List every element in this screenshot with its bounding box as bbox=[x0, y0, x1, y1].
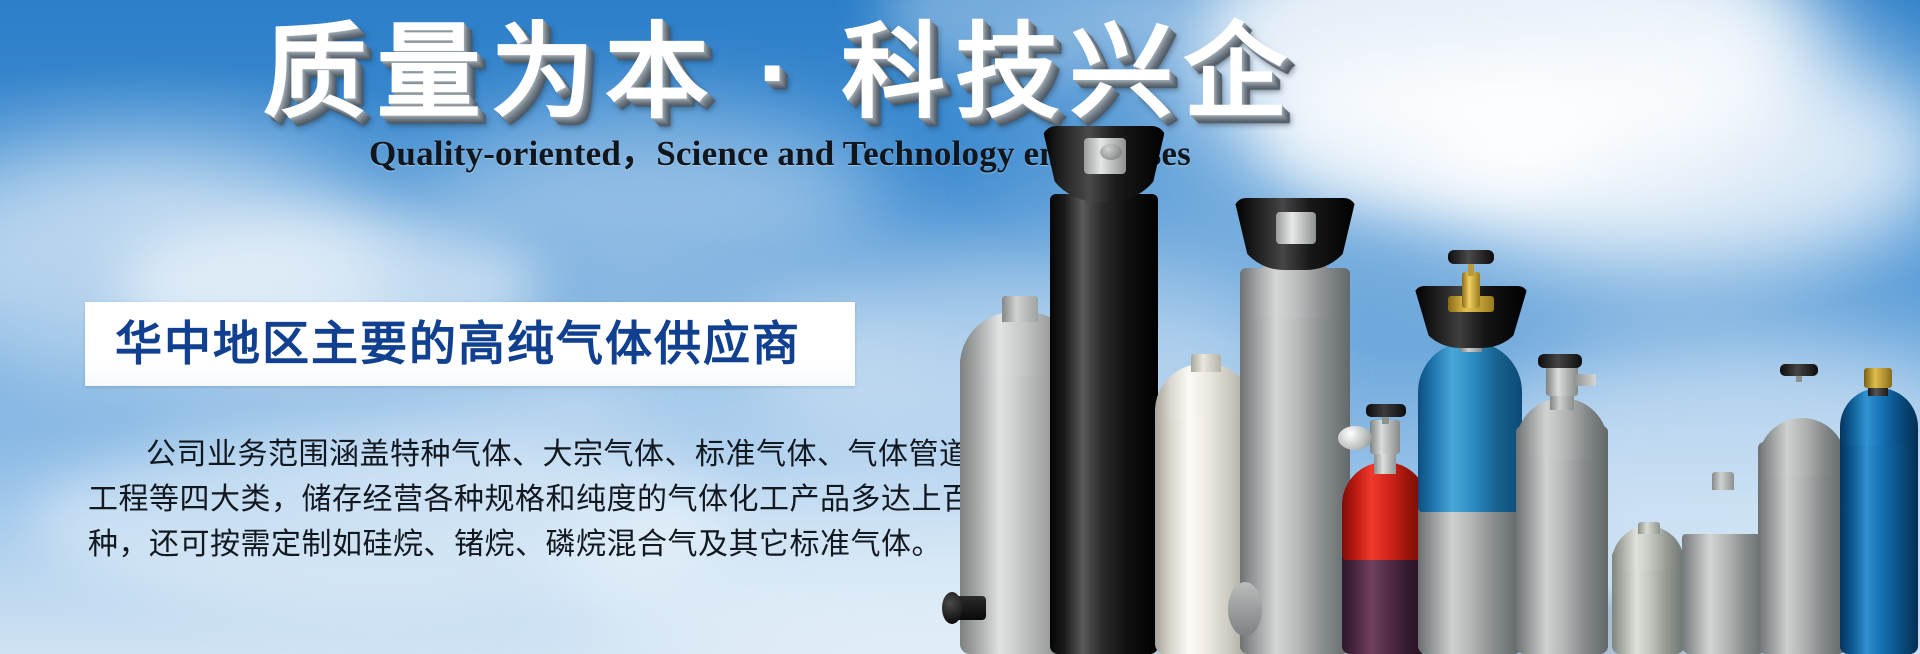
cylinder-shoulder-green bbox=[1682, 482, 1766, 576]
paragraph-line: 公司业务范围涵盖特种气体、大宗气体、标准气体、气体管道 bbox=[88, 432, 868, 477]
cylinder-body bbox=[1516, 426, 1608, 654]
valve-handwheel bbox=[1366, 404, 1406, 417]
cylinder-body bbox=[1906, 510, 1920, 654]
valve-handwheel bbox=[1100, 144, 1122, 160]
cylinder-valve bbox=[1370, 420, 1400, 454]
cylinder-neck bbox=[1002, 296, 1038, 322]
promotional-banner: 质量为本 · 科技兴企 Quality-oriented，Science and… bbox=[0, 0, 1920, 654]
cylinder-valve bbox=[1276, 212, 1316, 244]
cylinder-shoulder-red bbox=[1342, 462, 1428, 560]
description-paragraph: 公司业务范围涵盖特种气体、大宗气体、标准气体、气体管道 工程等四大类，储存经营各… bbox=[88, 432, 868, 567]
cylinder-shoulder bbox=[1906, 482, 1920, 528]
cylinder-red-purple-small bbox=[1342, 404, 1428, 654]
valve-handwheel bbox=[942, 592, 962, 624]
valve-handwheel bbox=[1780, 364, 1818, 376]
cylinder-end-cap bbox=[1228, 582, 1262, 636]
paragraph-line: 种，还可按需定制如硅烷、锗烷、磷烷混合气及其它标准气体。 bbox=[88, 522, 868, 567]
brass-valve-body bbox=[1462, 272, 1480, 308]
cylinder-lying-horizontal bbox=[952, 570, 1272, 648]
valve-outlet bbox=[1574, 374, 1596, 386]
pressure-gauge bbox=[1338, 426, 1372, 450]
cylinder-gray-valve-tall bbox=[1758, 364, 1846, 654]
cylinder-silver-plain bbox=[1906, 476, 1920, 654]
cylinder-valve bbox=[1786, 378, 1814, 412]
slogan-box: 华中地区主要的高纯气体供应商 bbox=[85, 302, 855, 386]
cylinder-valve bbox=[1710, 454, 1736, 478]
cylinder-shoulder-blue bbox=[1418, 342, 1522, 512]
paragraph-line: 工程等四大类，储存经营各种规格和纯度的气体化工产品多达上百 bbox=[88, 477, 868, 522]
cylinder-green-medium bbox=[1682, 454, 1766, 654]
cylinder-silver-small bbox=[1612, 522, 1684, 654]
slogan-text: 华中地区主要的高纯气体供应商 bbox=[85, 319, 801, 369]
cylinder-neck bbox=[1638, 522, 1660, 534]
gas-cylinder-group-image bbox=[940, 0, 1920, 654]
cylinder-body bbox=[974, 570, 1242, 648]
cylinder-neck bbox=[1191, 354, 1221, 372]
valve-handwheel bbox=[1538, 354, 1582, 368]
valve-handwheel bbox=[1448, 250, 1494, 264]
cylinder-gray-medium-valve bbox=[1516, 354, 1608, 654]
cylinder-blue-gray-capped bbox=[1418, 250, 1522, 654]
cylinder-shoulder bbox=[1840, 388, 1918, 446]
valve-outlet bbox=[1888, 374, 1908, 384]
